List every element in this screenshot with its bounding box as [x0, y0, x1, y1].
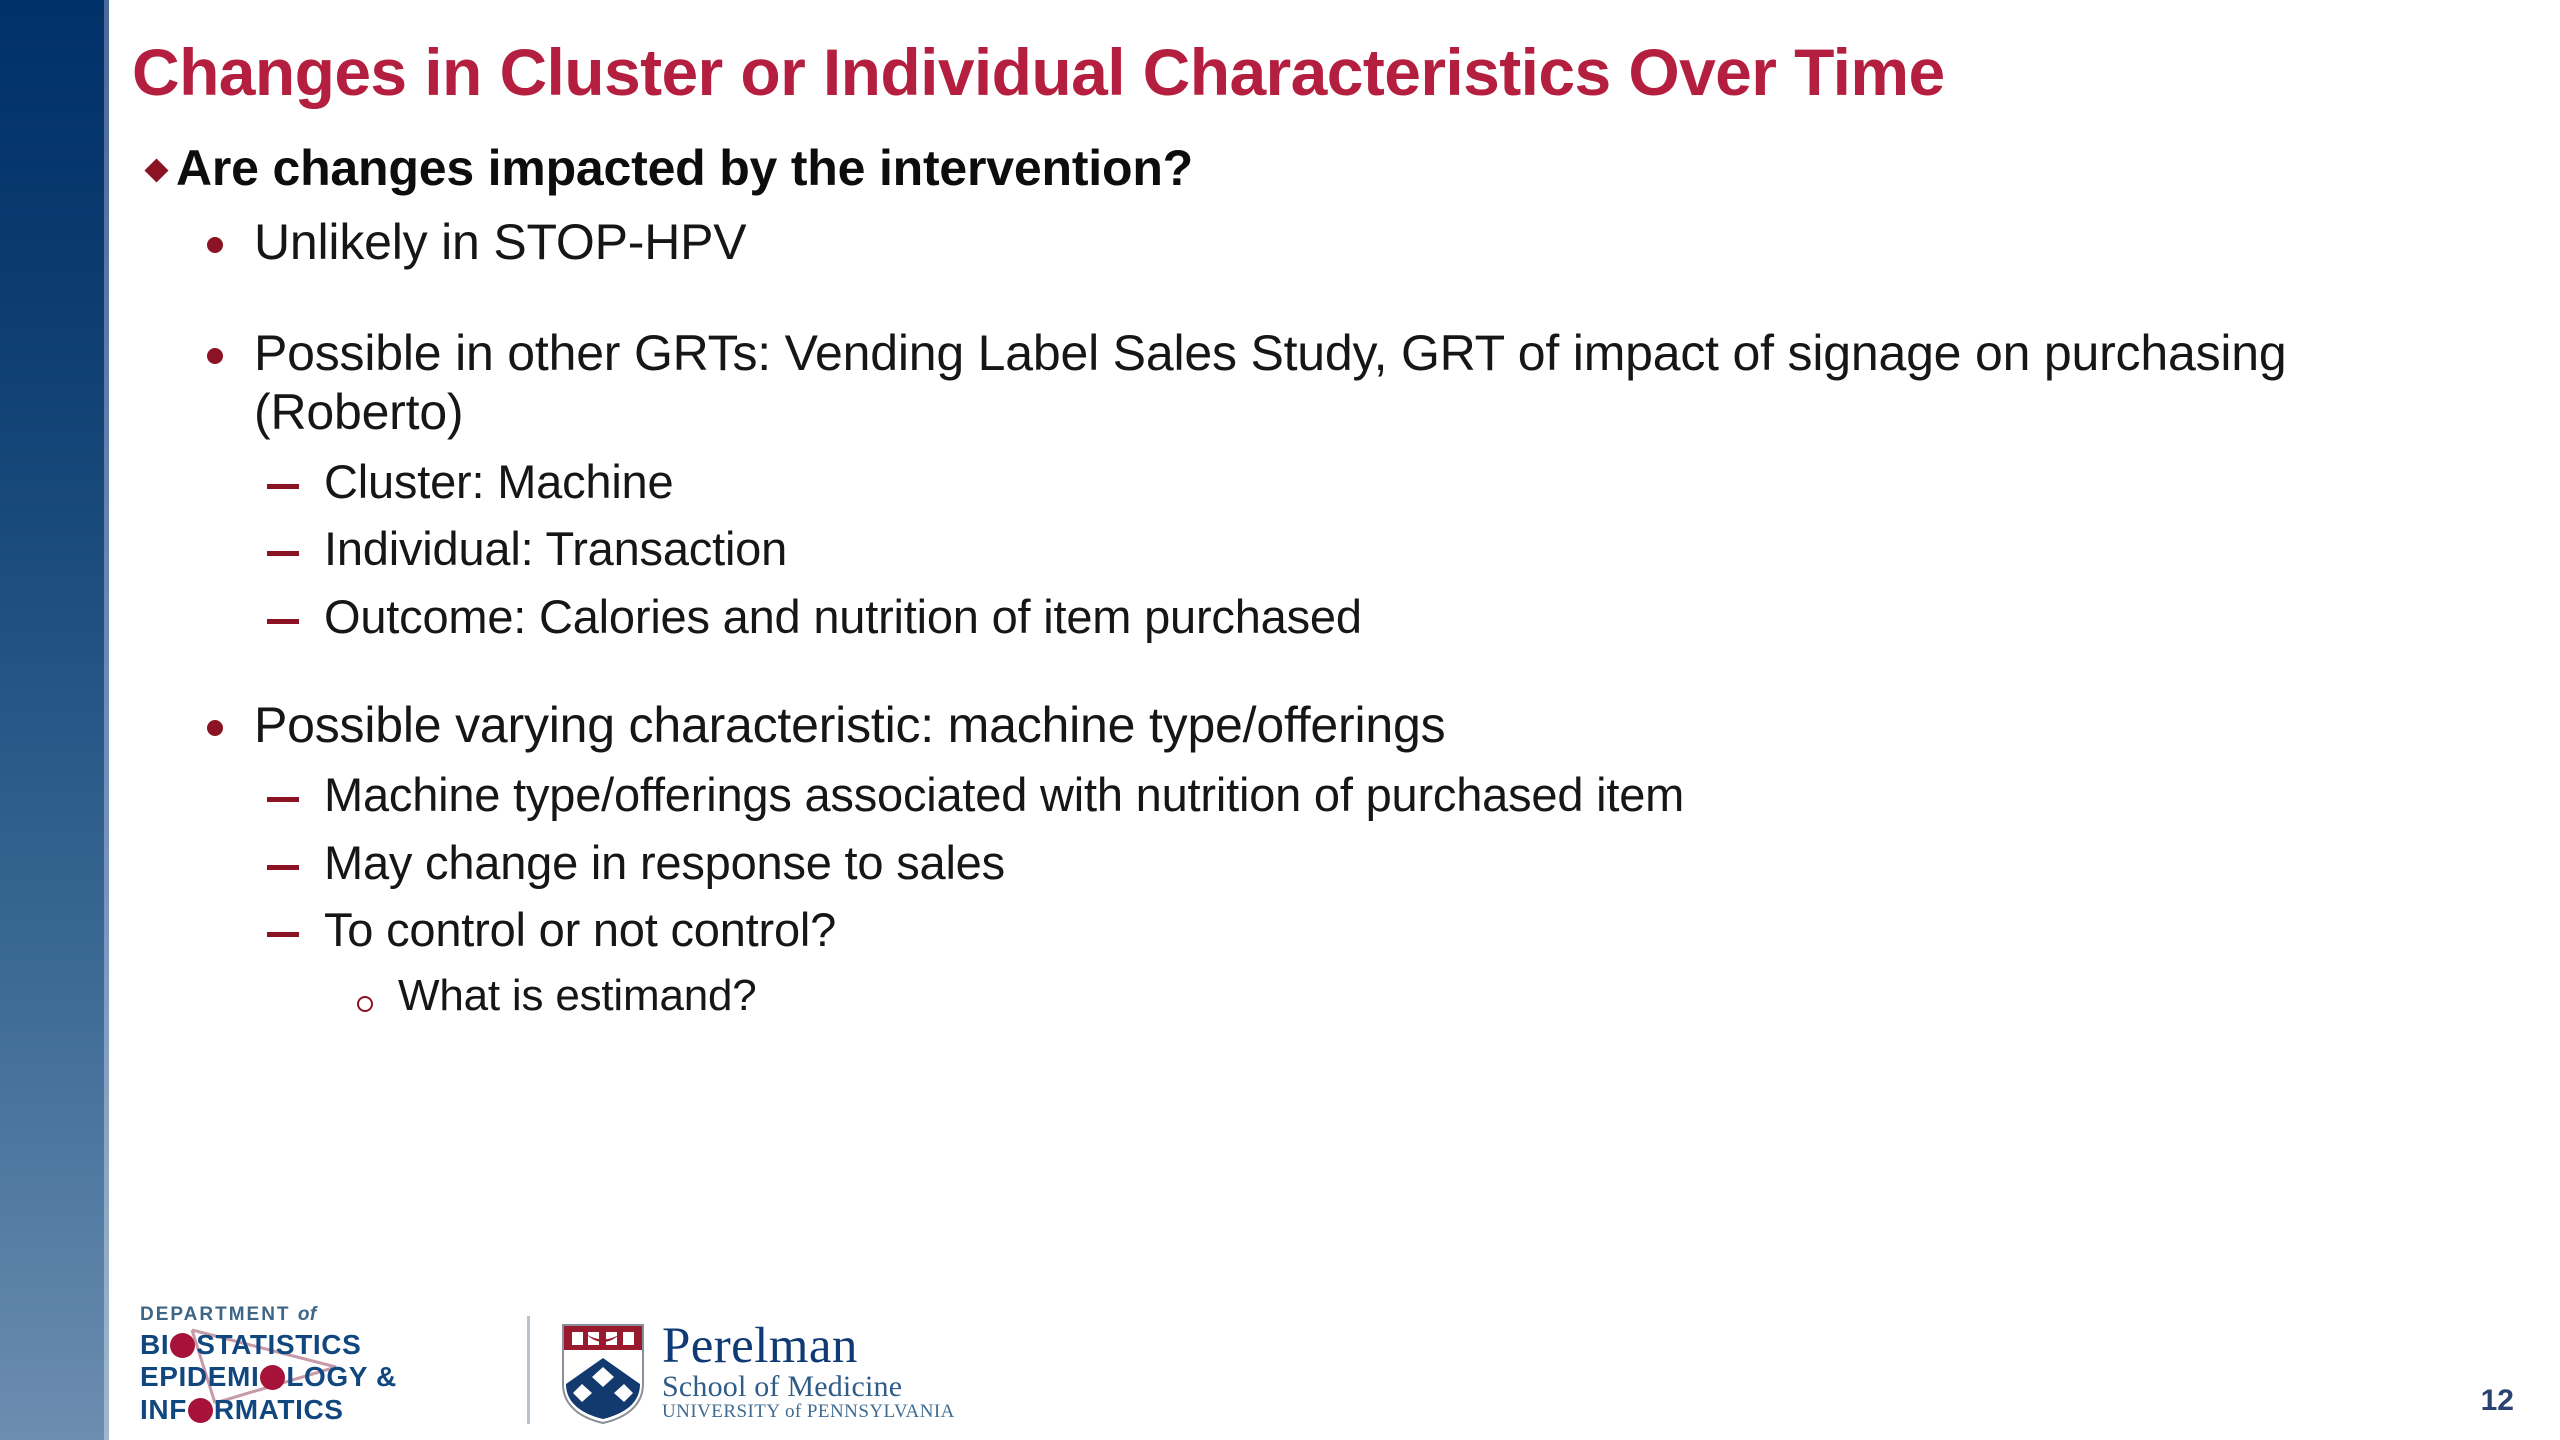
spacer [132, 644, 2532, 680]
dbei-line-3: INFRMATICS [140, 1394, 495, 1426]
dash-bullet-icon [242, 454, 324, 489]
bullet-text: Outcome: Calories and nutrition of item … [324, 589, 2532, 644]
bullet-item-l3: Machine type/offerings associated with n… [132, 767, 2532, 822]
dash-bullet-icon [242, 521, 324, 556]
dash-bullet-icon [242, 902, 324, 937]
bullet-text: Possible in other GRTs: Vending Label Sa… [254, 324, 2334, 442]
bullet-item-l3: May change in response to sales [132, 835, 2532, 890]
dbei-node-dot-icon [188, 1398, 213, 1423]
left-accent-bar [0, 0, 104, 1440]
bullet-text: What is estimand? [398, 970, 2532, 1022]
bullet-item-l3: Outcome: Calories and nutrition of item … [132, 589, 2532, 644]
bullet-item-l3: To control or not control? [132, 902, 2532, 957]
dash-bullet-icon [242, 589, 324, 624]
bullet-text: Possible varying characteristic: machine… [254, 696, 2334, 755]
bullet-text: To control or not control? [324, 902, 2532, 957]
dbei-line-1: BISTATISTICS [140, 1329, 495, 1361]
dash-bullet-icon [242, 835, 324, 870]
slide-title: Changes in Cluster or Individual Charact… [132, 38, 2532, 107]
dash-bullet-icon [242, 767, 324, 802]
dot-bullet-icon [176, 696, 254, 736]
bullet-text: May change in response to sales [324, 835, 2532, 890]
perelman-wordmark: Perelman School of Medicine UNIVERSITY o… [662, 1323, 955, 1423]
bullet-item-l2: Possible varying characteristic: machine… [132, 696, 2532, 755]
dbei-node-dot-icon [260, 1365, 285, 1390]
slide-canvas: Changes in Cluster or Individual Charact… [0, 0, 2560, 1440]
bullet-text: Machine type/offerings associated with n… [324, 767, 2532, 822]
perelman-logo: Perelman School of Medicine UNIVERSITY o… [560, 1322, 955, 1426]
dbei-department-line: DEPARTMENT of [140, 1304, 495, 1326]
bullet-text: Individual: Transaction [324, 521, 2532, 576]
perelman-name: Perelman [662, 1323, 955, 1371]
spacer [132, 272, 2532, 308]
bullet-text: Unlikely in STOP-HPV [254, 213, 2334, 272]
dbei-logo: DEPARTMENT of BISTATISTICS EPIDEMILOGY &… [140, 1304, 495, 1426]
page-number: 12 [2481, 1384, 2514, 1418]
footer-divider [527, 1316, 530, 1424]
ring-bullet-icon [332, 970, 398, 1012]
slide-body: Are changes impacted by the intervention… [132, 140, 2532, 1022]
bullet-text: Are changes impacted by the intervention… [176, 140, 2532, 197]
bullet-item-l3: Individual: Transaction [132, 521, 2532, 576]
bullet-item-l2: Possible in other GRTs: Vending Label Sa… [132, 324, 2532, 442]
left-accent-bar-edge [104, 0, 109, 1440]
penn-shield-icon [560, 1322, 646, 1426]
bullet-item-l3: Cluster: Machine [132, 454, 2532, 509]
perelman-school: School of Medicine [662, 1371, 955, 1403]
footer-logos: DEPARTMENT of BISTATISTICS EPIDEMILOGY &… [140, 1304, 955, 1426]
perelman-university: UNIVERSITY of PENNSYLVANIA [662, 1402, 955, 1423]
dbei-node-dot-icon [170, 1333, 195, 1358]
diamond-bullet-icon [132, 140, 176, 179]
dbei-line-2: EPIDEMILOGY & [140, 1361, 495, 1393]
dot-bullet-icon [176, 213, 254, 253]
bullet-item-l4: What is estimand? [132, 970, 2532, 1022]
bullet-text: Cluster: Machine [324, 454, 2532, 509]
bullet-item-l1: Are changes impacted by the intervention… [132, 140, 2532, 197]
bullet-item-l2: Unlikely in STOP-HPV [132, 213, 2532, 272]
dot-bullet-icon [176, 324, 254, 364]
